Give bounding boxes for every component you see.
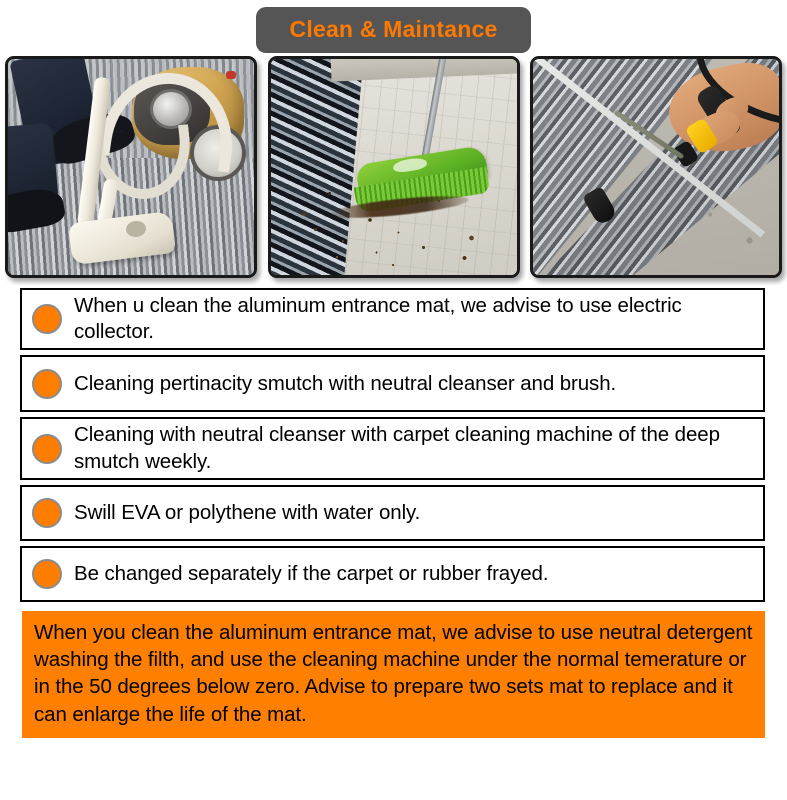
orange-bullet-icon xyxy=(32,304,62,334)
instruction-list: When u clean the aluminum entrance mat, … xyxy=(0,288,787,602)
photo-vacuum-cleaner-on-aluminum-mat xyxy=(5,56,257,278)
orange-bullet-icon xyxy=(32,369,62,399)
photo-gallery xyxy=(0,56,787,282)
instruction-row-5: Be changed separately if the carpet or r… xyxy=(20,546,765,602)
orange-bullet-icon xyxy=(32,434,62,464)
instruction-text-1: When u clean the aluminum entrance mat, … xyxy=(74,293,757,345)
instruction-row-2: Cleaning pertinacity smutch with neutral… xyxy=(20,355,765,412)
dirt-specks-scattered xyxy=(271,59,517,275)
photo-broom-sweeping-dirt xyxy=(268,56,520,278)
orange-bullet-icon xyxy=(32,559,62,589)
instruction-text-4: Swill EVA or polythene with water only. xyxy=(74,500,420,526)
instruction-text-2: Cleaning pertinacity smutch with neutral… xyxy=(74,371,616,397)
instruction-row-4: Swill EVA or polythene with water only. xyxy=(20,485,765,541)
page-title: Clean & Maintance xyxy=(256,7,532,53)
header-bar: Clean & Maintance xyxy=(0,0,787,56)
orange-bullet-icon xyxy=(32,498,62,528)
footer-note: When you clean the aluminum entrance mat… xyxy=(22,611,765,738)
photo-pressure-washer-on-mat xyxy=(530,56,782,278)
instruction-row-1: When u clean the aluminum entrance mat, … xyxy=(20,288,765,350)
instruction-row-3: Cleaning with neutral cleanser with carp… xyxy=(20,417,765,479)
vacuum-power-button xyxy=(226,71,236,79)
instruction-text-5: Be changed separately if the carpet or r… xyxy=(74,561,548,587)
instruction-text-3: Cleaning with neutral cleanser with carp… xyxy=(74,422,757,474)
